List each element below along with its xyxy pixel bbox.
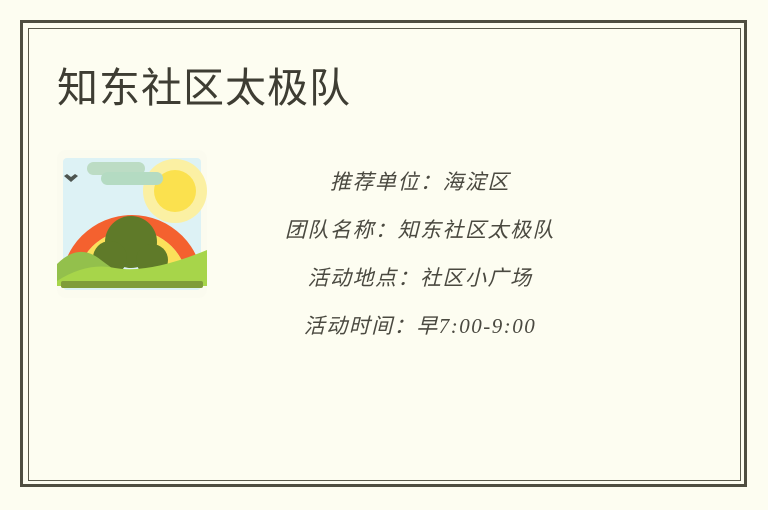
rainbow-landscape-illustration bbox=[57, 150, 207, 298]
info-line-activity-location: 活动地点：社区小广场 bbox=[225, 266, 615, 290]
poster-card: 知东社区太极队 bbox=[0, 0, 768, 510]
info-line-team-name: 团队名称：知东社区太极队 bbox=[225, 218, 615, 242]
info-line-recommending-unit: 推荐单位：海淀区 bbox=[225, 170, 615, 194]
page-title: 知东社区太极队 bbox=[57, 62, 351, 114]
team-info-block: 推荐单位：海淀区 团队名称：知东社区太极队 活动地点：社区小广场 活动时间：早7… bbox=[225, 162, 615, 338]
info-line-activity-time: 活动时间：早7:00-9:00 bbox=[225, 314, 615, 338]
